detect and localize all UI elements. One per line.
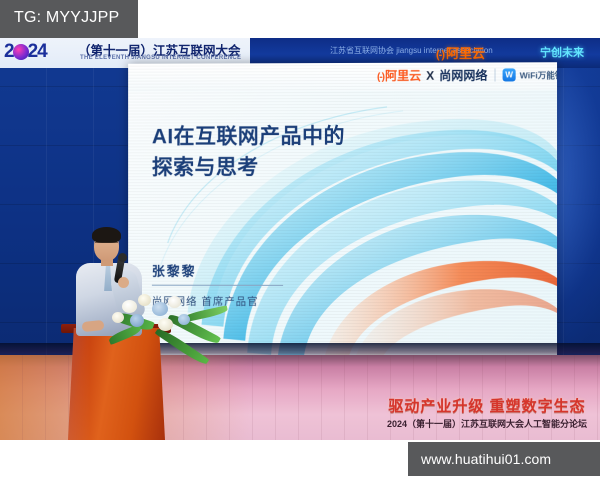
slide-header-bar: (-)阿里云 X 尚网网络 W WiFi万能钥匙 (128, 62, 557, 91)
telegram-watermark-text: TG: MYYJJPP (14, 9, 119, 27)
flower-bloom (168, 296, 181, 308)
slide-alicloud-mark-icon: (-) (377, 72, 384, 83)
stage-event-banner: 驱动产业升级 重塑数字生态 2024（第十一届）江苏互联网大会人工智能分论坛 (374, 395, 600, 440)
conference-year-logo: 224 (4, 40, 76, 64)
flower-bloom (158, 318, 173, 331)
flower-bloom (122, 300, 137, 313)
slide-title-line-1: AI在互联网产品中的 (152, 121, 345, 152)
wifi-key-icon: W (503, 68, 516, 81)
venue-banner-alicloud-logo: (-)阿里云 (436, 43, 485, 62)
conference-photo: 224 （第十一届）江苏互联网大会 THE ELEVENTH JIANGSU I… (0, 38, 600, 440)
slide-alicloud-logo: (-)阿里云 (377, 67, 421, 84)
screenshot-root: 224 （第十一届）江苏互联网大会 THE ELEVENTH JIANGSU I… (0, 0, 600, 480)
site-watermark-text: www.huatihui01.com (421, 451, 551, 467)
site-watermark-band: www.huatihui01.com (408, 442, 600, 476)
slide-alicloud-label: 阿里云 (385, 69, 421, 83)
flower-bloom (138, 294, 151, 306)
flower-arrangement (108, 290, 238, 370)
year-suffix: 24 (28, 41, 47, 62)
slide-partner-label: 尚网网络 (439, 66, 487, 83)
venue-banner-title-en: THE ELEVENTH JIANGSU INTERNET CONFERENCE (80, 55, 241, 61)
alicloud-label: 阿里云 (446, 46, 485, 61)
speaker-hair (92, 227, 121, 243)
speaker-hand (118, 277, 129, 288)
glasses-icon (95, 242, 118, 248)
stage-banner-headline: 驱动产业升级 重塑数字生态 (374, 395, 600, 416)
leaf-shape (108, 324, 143, 345)
slide-header-divider (495, 68, 496, 81)
flower-bloom (152, 302, 168, 316)
slide-title-line-2: 探索与思考 (152, 152, 345, 183)
alicloud-mark-icon: (-) (436, 49, 444, 61)
venue-banner-ningchuang-logo: 宁创未来 (540, 44, 584, 60)
telegram-watermark-band: TG: MYYJJPP (0, 0, 138, 38)
flower-bloom (112, 312, 124, 323)
slide-partnership-x: X (426, 68, 434, 82)
flower-bloom (178, 314, 190, 325)
microphone-head-icon (118, 253, 127, 262)
stage-banner-subline: 2024（第十一届）江苏互联网大会人工智能分论坛 (374, 417, 600, 430)
slide-title: AI在互联网产品中的 探索与思考 (152, 121, 345, 183)
slide-header-logos: (-)阿里云 X 尚网网络 W WiFi万能钥匙 (377, 66, 557, 84)
wifi-key-label: WiFi万能钥匙 (520, 69, 557, 81)
globe-icon (13, 44, 29, 60)
flower-bloom (130, 314, 144, 327)
